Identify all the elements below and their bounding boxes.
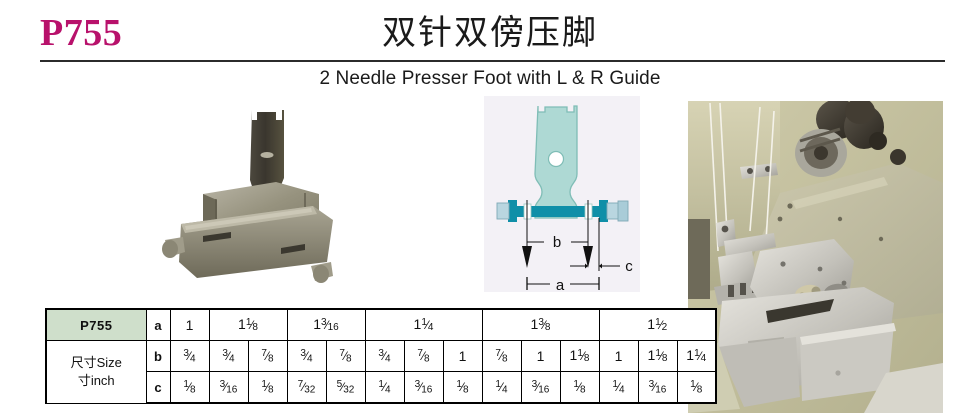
cell-rowkey-b: b (146, 341, 170, 372)
cell-a-4: 11⁄4 (365, 309, 482, 341)
page-header: P755 双针双傍压脚 2 Needle Presser Foot with L… (0, 0, 980, 96)
content-area: b c a (0, 96, 980, 418)
cell-product-code: P755 (46, 309, 146, 341)
size-label-line2: 寸inch (47, 372, 146, 390)
cell-c-14: 1⁄8 (677, 372, 716, 404)
cell-b-6: 3⁄4 (365, 341, 404, 372)
dimension-schematic: b c a (484, 96, 640, 292)
table-row-c: c 1⁄8 3⁄16 1⁄8 7⁄32 5⁄32 1⁄4 3⁄16 1⁄8 1⁄… (46, 372, 716, 404)
cell-c-9: 1⁄4 (482, 372, 521, 404)
cell-c-5: 5⁄32 (326, 372, 365, 404)
table-row-a: P755 a 1 11⁄8 13⁄16 11⁄4 13⁄8 11 (46, 309, 716, 341)
cell-b-7: 7⁄8 (404, 341, 443, 372)
cell-size-label: 尺寸Size 寸inch (46, 341, 146, 404)
sewing-machine-photo (688, 101, 943, 413)
cell-c-3: 1⁄8 (248, 372, 287, 404)
cell-b-12: 1 (599, 341, 638, 372)
cell-a-6: 11⁄2 (599, 309, 716, 341)
cell-b-8: 1 (443, 341, 482, 372)
specification-table: P755 a 1 11⁄8 13⁄16 11⁄4 13⁄8 11 (45, 308, 717, 404)
cell-c-13: 3⁄16 (638, 372, 677, 404)
cell-a-3: 13⁄16 (287, 309, 365, 341)
page-title-chinese: 双针双傍压脚 (0, 14, 980, 53)
diagram-label-a: a (556, 277, 565, 292)
cell-b-9: 7⁄8 (482, 341, 521, 372)
cell-c-12: 1⁄4 (599, 372, 638, 404)
cell-b-10: 1 (521, 341, 560, 372)
cell-b-5: 7⁄8 (326, 341, 365, 372)
cell-c-1: 1⁄8 (170, 372, 209, 404)
cell-rowkey-c: c (146, 372, 170, 404)
cell-c-8: 1⁄8 (443, 372, 482, 404)
diagram-label-b: b (553, 234, 561, 251)
cell-b-2: 3⁄4 (209, 341, 248, 372)
cell-a-1: 1 (170, 309, 209, 341)
cell-b-1: 3⁄4 (170, 341, 209, 372)
cell-rowkey-a: a (146, 309, 170, 341)
cell-c-7: 3⁄16 (404, 372, 443, 404)
cell-c-4: 7⁄32 (287, 372, 326, 404)
cell-b-4: 3⁄4 (287, 341, 326, 372)
presser-foot-product-photo (145, 102, 345, 292)
cell-b-11: 11⁄8 (560, 341, 599, 372)
size-label-line1: 尺寸Size (47, 354, 146, 372)
cell-a-5: 13⁄8 (482, 309, 599, 341)
page-title-english: 2 Needle Presser Foot with L & R Guide (0, 68, 980, 90)
cell-c-2: 3⁄16 (209, 372, 248, 404)
cell-c-6: 1⁄4 (365, 372, 404, 404)
cell-a-2: 11⁄8 (209, 309, 287, 341)
cell-b-13: 11⁄8 (638, 341, 677, 372)
cell-c-11: 1⁄8 (560, 372, 599, 404)
cell-c-10: 3⁄16 (521, 372, 560, 404)
diagram-label-c: c (625, 258, 633, 275)
cell-b-14: 11⁄4 (677, 341, 716, 372)
header-divider (40, 60, 945, 62)
cell-b-3: 7⁄8 (248, 341, 287, 372)
table-row-b: 尺寸Size 寸inch b 3⁄4 3⁄4 7⁄8 3⁄4 7⁄8 3⁄4 7… (46, 341, 716, 372)
